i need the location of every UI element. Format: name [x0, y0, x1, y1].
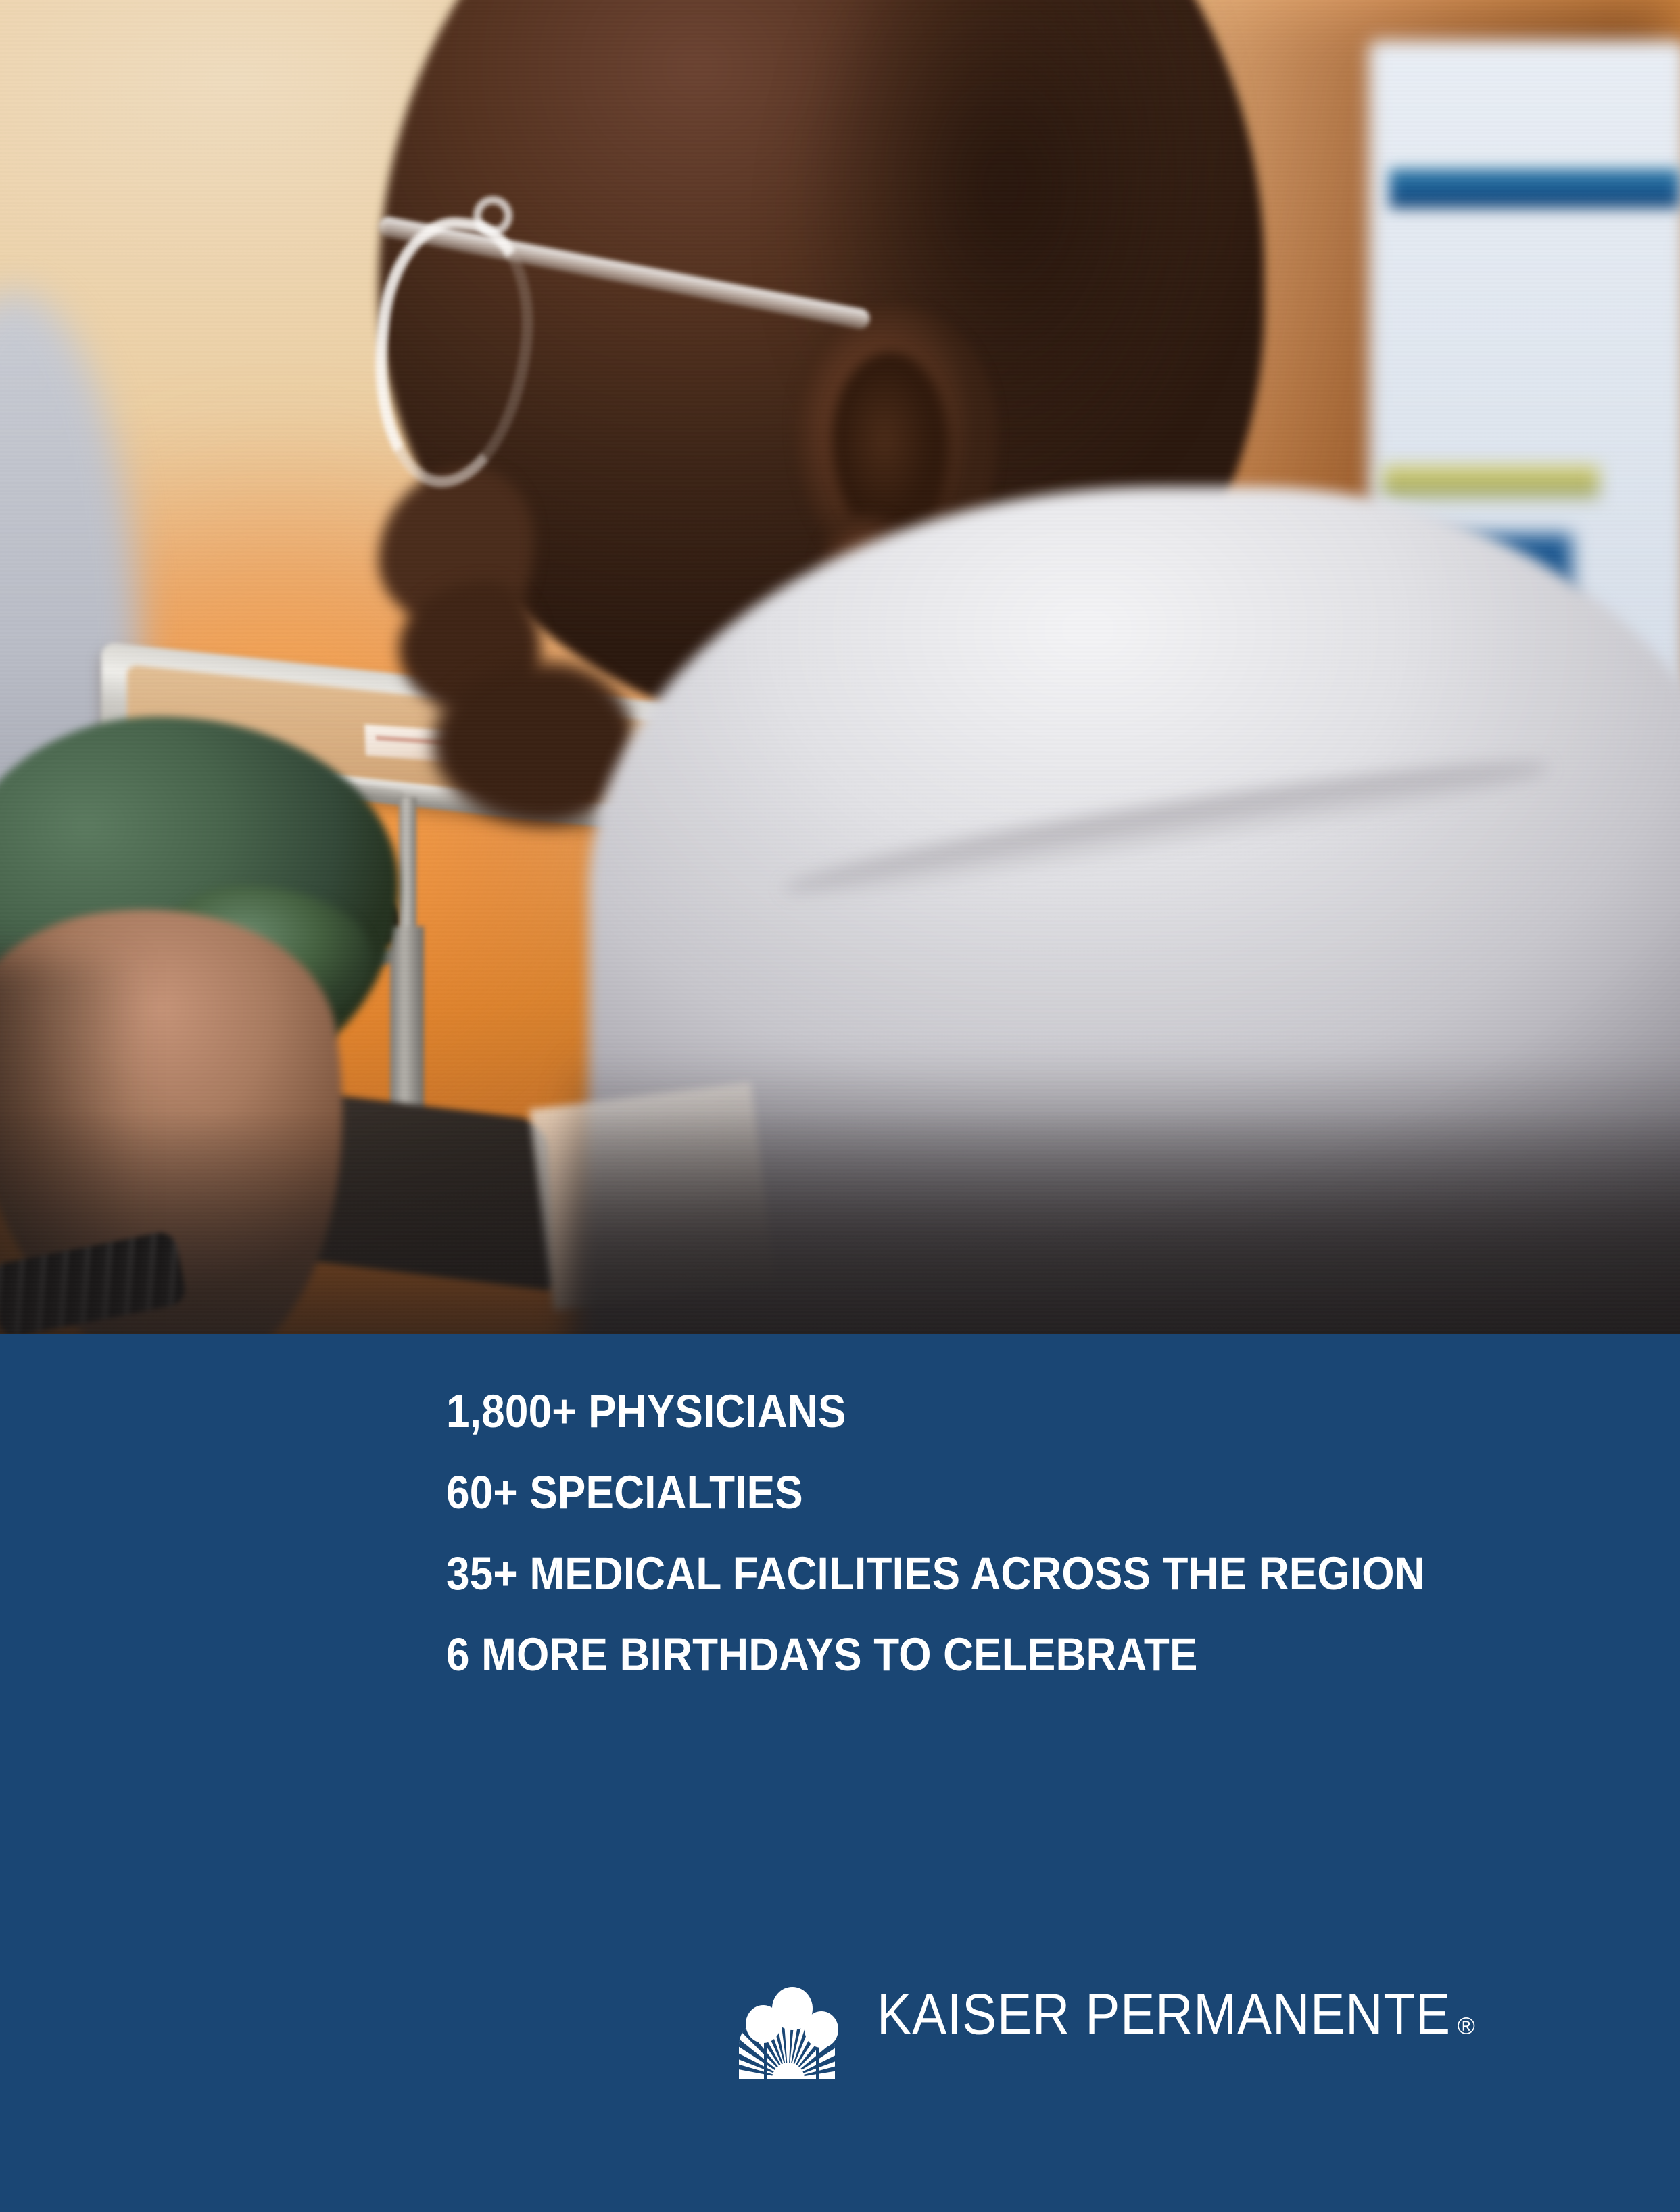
hero-photo	[0, 0, 1680, 1334]
stat-line-facilities: 35+ MEDICAL FACILITIES ACROSS THE REGION	[446, 1550, 1481, 1597]
wordmark-text: KAISER PERMANENTE	[877, 1983, 1451, 2047]
lab-coat-shadow	[568, 1055, 1680, 1334]
stats-list: 1,800+ PHYSICIANS 60+ SPECIALTIES 35+ ME…	[446, 1388, 1595, 1712]
thrive-head-right	[805, 2011, 838, 2048]
poster-page: 1,800+ PHYSICIANS 60+ SPECIALTIES 35+ ME…	[0, 0, 1680, 2212]
stat-line-physicians: 1,800+ PHYSICIANS	[446, 1388, 1481, 1435]
registered-trademark-icon: ®	[1458, 2013, 1475, 2040]
kaiser-permanente-thrive-mark-icon	[734, 1976, 843, 2079]
eyeglasses-hinge	[473, 196, 512, 235]
monitor-screen-row	[1383, 466, 1599, 498]
kaiser-permanente-wordmark: KAISER PERMANENTE ®	[877, 1982, 1478, 2050]
monitor-screen-header	[1389, 169, 1680, 208]
stat-line-birthdays: 6 MORE BIRTHDAYS TO CELEBRATE	[446, 1631, 1481, 1678]
kaiser-permanente-logo: KAISER PERMANENTE ®	[734, 1973, 1538, 2084]
stat-line-specialties: 60+ SPECIALTIES	[446, 1469, 1481, 1516]
